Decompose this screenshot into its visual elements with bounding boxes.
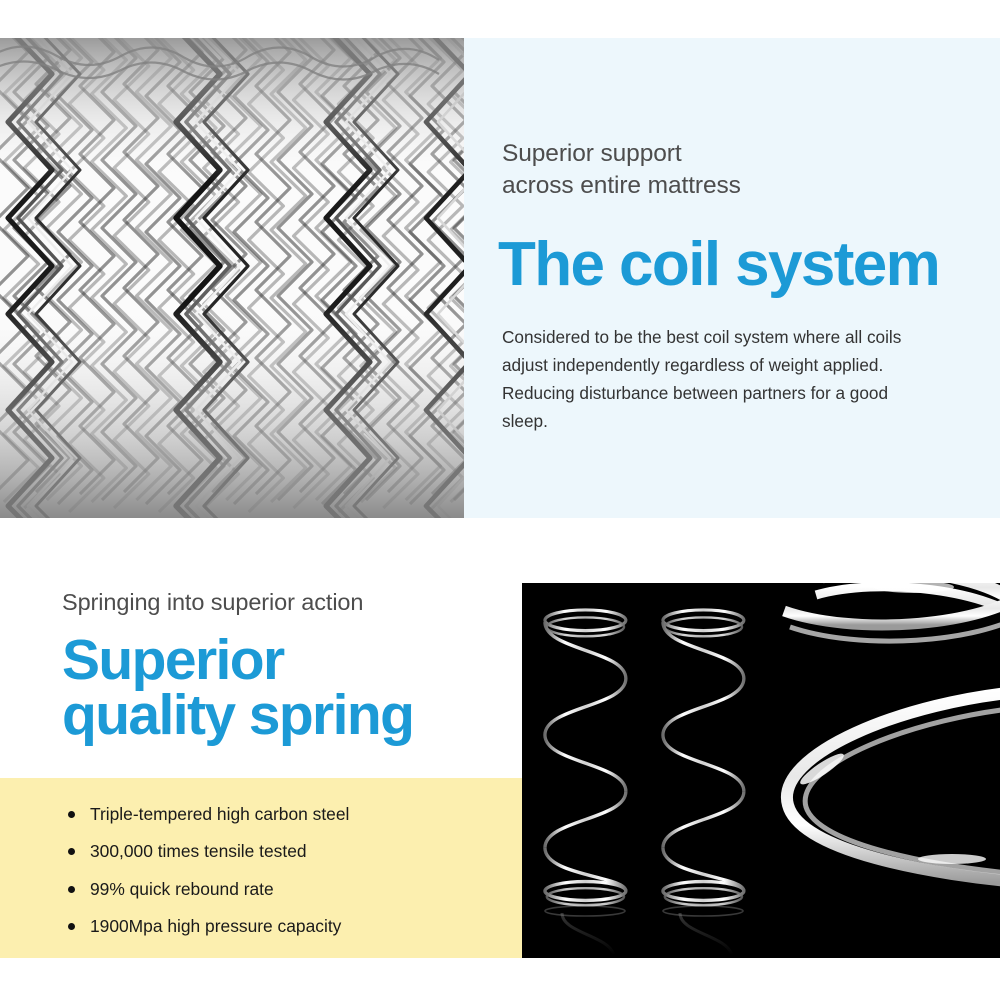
coil-eyebrow: Superior support across entire mattress bbox=[502, 138, 942, 202]
bullet-icon bbox=[68, 811, 75, 818]
chrome-springs-illustration bbox=[522, 583, 1000, 958]
coil-system-text-panel: Superior support across entire mattress … bbox=[464, 38, 1000, 518]
list-item: 300,000 times tensile tested bbox=[68, 843, 498, 860]
feature-label: 99% quick rebound rate bbox=[90, 879, 274, 899]
spring-headline-line-1: Superior bbox=[62, 633, 492, 688]
bullet-icon bbox=[68, 886, 75, 893]
coil-springs-illustration bbox=[0, 38, 464, 518]
coil-eyebrow-line-1: Superior support bbox=[502, 138, 942, 170]
spring-headline-line-2: quality spring bbox=[62, 688, 492, 743]
feature-label: 1900Mpa high pressure capacity bbox=[90, 916, 341, 936]
spring-headline: Superior quality spring bbox=[62, 633, 492, 742]
feature-label: Triple-tempered high carbon steel bbox=[90, 804, 349, 824]
chrome-springs-photo bbox=[522, 583, 1000, 958]
features-panel: Triple-tempered high carbon steel 300,00… bbox=[0, 778, 522, 958]
feature-label: 300,000 times tensile tested bbox=[90, 841, 307, 861]
list-item: 1900Mpa high pressure capacity bbox=[68, 918, 498, 935]
bullet-icon bbox=[68, 848, 75, 855]
list-item: Triple-tempered high carbon steel bbox=[68, 806, 498, 823]
bullet-icon bbox=[68, 923, 75, 930]
coil-system-section: Superior support across entire mattress … bbox=[0, 38, 1000, 518]
spring-heading-group: Springing into superior action Superior … bbox=[62, 588, 492, 743]
coil-body-text: Considered to be the best coil system wh… bbox=[502, 324, 912, 435]
features-list: Triple-tempered high carbon steel 300,00… bbox=[68, 806, 498, 956]
coil-eyebrow-line-2: across entire mattress bbox=[502, 170, 942, 202]
list-item: 99% quick rebound rate bbox=[68, 881, 498, 898]
coil-springs-photo bbox=[0, 38, 464, 518]
product-feature-page: Superior support across entire mattress … bbox=[0, 0, 1000, 1000]
spring-eyebrow: Springing into superior action bbox=[62, 588, 492, 616]
coil-headline: The coil system bbox=[498, 234, 968, 296]
